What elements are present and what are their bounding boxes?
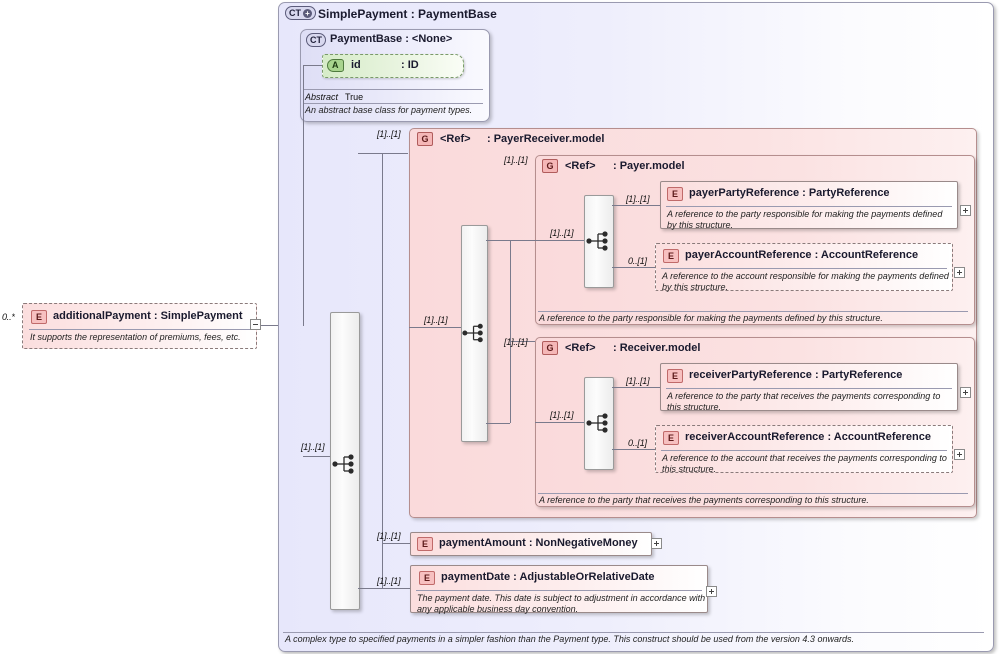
connector-pr-spine-2 (510, 341, 511, 423)
sequence-receiver-cardinality: [1]..[1] (550, 410, 573, 420)
element-badge: E (31, 310, 47, 324)
connector-pr-branch-1b (510, 240, 535, 241)
element-label-additionalPayment: additionalPayment : SimplePayment (53, 310, 243, 322)
expand-expander-payerAccountReference[interactable] (954, 267, 965, 278)
divider (304, 89, 483, 90)
element-badge: E (667, 369, 683, 383)
paymentDate-cardinality: [1]..[1] (377, 576, 400, 586)
element-label-receiverPartyReference: receiverPartyReference : PartyReference (689, 369, 902, 381)
divider (538, 311, 968, 312)
expand-expander-payerPartyReference[interactable] (960, 205, 971, 216)
attribute-badge: A (327, 59, 344, 72)
sequence-compositor-payer-receiver[interactable] (461, 225, 488, 442)
attribute-name-id: id (351, 59, 361, 71)
divider (666, 206, 952, 207)
element-label-payerPartyReference: payerPartyReference : PartyReference (689, 187, 890, 199)
connector-receiver-branch-1 (612, 387, 660, 388)
divider (666, 388, 952, 389)
group-annotation-Payer: A reference to the party responsible for… (539, 313, 969, 324)
attribute-box-id[interactable]: A id : ID (322, 54, 464, 78)
connector-pr-spine (510, 240, 511, 341)
group-badge: G (542, 159, 558, 173)
element-label-payerAccountReference: payerAccountReference : AccountReference (685, 249, 918, 261)
connector-receiver-branch-2 (612, 449, 660, 450)
divider (304, 103, 483, 104)
element-annotation-paymentDate: The payment date. This date is subject t… (417, 593, 707, 615)
expand-expander-paymentDate[interactable] (706, 586, 717, 597)
receiverAccountReference-cardinality: 0..[1] (628, 438, 647, 448)
group-payer-receiver-cardinality: [1]..[1] (377, 129, 400, 139)
connector-into-root-sequence (303, 456, 330, 457)
element-badge: E (417, 537, 433, 551)
group-badge: G (542, 341, 558, 355)
sequence-compositor-receiver[interactable] (584, 377, 614, 470)
expand-plus-icon[interactable]: + (303, 9, 312, 18)
connector-payer-branch-2 (612, 267, 660, 268)
connector-pr-branch-1a (486, 240, 510, 241)
expand-expander-paymentAmount[interactable] (651, 538, 662, 549)
element-box-payerAccountReference[interactable]: E payerAccountReference : AccountReferen… (655, 243, 953, 291)
element-label-receiverAccountReference: receiverAccountReference : AccountRefere… (685, 431, 931, 443)
sequence-payer-cardinality: [1]..[1] (550, 228, 573, 238)
connector-payer-branch-1 (612, 205, 660, 206)
element-annotation-receiverPartyReference: A reference to the party that receives t… (667, 391, 953, 413)
sequence-icon (586, 412, 612, 434)
element-box-paymentDate[interactable]: E paymentDate : AdjustableOrRelativeDate… (410, 565, 708, 613)
sequence-icon (586, 230, 612, 252)
element-box-receiverPartyReference[interactable]: E receiverPartyReference : PartyReferenc… (660, 363, 958, 411)
divider (538, 493, 968, 494)
root-element-cardinality: 0..* (2, 312, 15, 322)
complextype-title: SimplePayment : PaymentBase (318, 7, 497, 21)
element-annotation-additionalPayment: It supports the representation of premiu… (30, 332, 250, 343)
element-annotation-receiverAccountReference: A reference to the account that receives… (662, 453, 950, 475)
expand-expander-receiverAccountReference[interactable] (954, 449, 965, 460)
element-box-additionalPayment[interactable]: E additionalPayment : SimplePayment It s… (22, 303, 257, 349)
complextype-badge: CT+ (285, 6, 316, 20)
connector-root-branch-1a (358, 153, 382, 154)
element-badge: E (663, 249, 679, 263)
connector-base-to-attribute (303, 65, 322, 66)
element-box-paymentAmount[interactable]: E paymentAmount : NonNegativeMoney (410, 532, 652, 556)
element-badge: E (663, 431, 679, 445)
connector-root-to-ct (261, 325, 279, 326)
group-name-PayerReceiver: : PayerReceiver.model (487, 133, 604, 145)
basetype-title: PaymentBase : <None> (330, 33, 452, 45)
group-payer-cardinality: [1]..[1] (504, 155, 527, 165)
element-label-paymentDate: paymentDate : AdjustableOrRelativeDate (441, 571, 655, 583)
connector-root-spine (382, 153, 383, 588)
divider (661, 450, 947, 451)
complextype-badge-text: CT (289, 9, 301, 18)
sequence-icon (462, 322, 487, 344)
payerPartyReference-cardinality: [1]..[1] (626, 194, 649, 204)
connector-base-vertical (303, 65, 304, 326)
element-label-paymentAmount: paymentAmount : NonNegativeMoney (439, 537, 638, 549)
sequence-compositor-payer[interactable] (584, 195, 614, 288)
group-ref-label: <Ref> (440, 133, 471, 145)
element-badge: E (419, 571, 435, 585)
element-annotation-payerPartyReference: A reference to the party responsible for… (667, 209, 953, 231)
connector-root-branch-3 (382, 588, 410, 589)
element-box-payerPartyReference[interactable]: E payerPartyReference : PartyReference A… (660, 181, 958, 229)
connector-root-branch-3-stub (358, 588, 382, 589)
connector-root-branch-2 (382, 543, 410, 544)
group-ref-label: <Ref> (565, 342, 596, 354)
divider (661, 268, 947, 269)
element-annotation-payerAccountReference: A reference to the account responsible f… (662, 271, 950, 293)
divider (283, 632, 984, 633)
group-name-Receiver: : Receiver.model (613, 342, 700, 354)
sequence-payer-receiver-cardinality: [1]..[1] (424, 315, 447, 325)
group-annotation-Receiver: A reference to the party that receives t… (539, 495, 969, 506)
complextype-annotation: A complex type to specified payments in … (285, 634, 854, 644)
sequence-icon (332, 453, 358, 475)
group-ref-label: <Ref> (565, 160, 596, 172)
sequence-root-cardinality: [1]..[1] (301, 442, 324, 452)
divider (29, 329, 250, 330)
element-box-receiverAccountReference[interactable]: E receiverAccountReference : AccountRefe… (655, 425, 953, 473)
connector-root-branch-1b (382, 153, 408, 154)
paymentAmount-cardinality: [1]..[1] (377, 531, 400, 541)
meta-key-abstract: Abstract (305, 92, 338, 102)
connector-into-pr-sequence (409, 327, 461, 328)
connector-into-receiver-sequence (535, 422, 584, 423)
connector-pr-branch-2a (486, 423, 510, 424)
sequence-compositor-root[interactable] (330, 312, 360, 610)
basetype-badge: CT (306, 33, 326, 47)
xsd-diagram-canvas: 0..* E additionalPayment : SimplePayment… (0, 0, 999, 654)
group-receiver-cardinality: [1]..[1] (504, 337, 527, 347)
divider (416, 590, 702, 591)
expand-expander-receiverPartyReference[interactable] (960, 387, 971, 398)
collapse-expander-additionalPayment[interactable] (250, 319, 261, 330)
meta-value-abstract: True (345, 92, 363, 102)
payerAccountReference-cardinality: 0..[1] (628, 256, 647, 266)
group-name-Payer: : Payer.model (613, 160, 685, 172)
element-badge: E (667, 187, 683, 201)
group-badge: G (417, 132, 433, 146)
receiverPartyReference-cardinality: [1]..[1] (626, 376, 649, 386)
attribute-type-id: : ID (401, 59, 419, 71)
connector-into-payer-sequence (535, 240, 584, 241)
basetype-annotation: An abstract base class for payment types… (305, 105, 485, 116)
